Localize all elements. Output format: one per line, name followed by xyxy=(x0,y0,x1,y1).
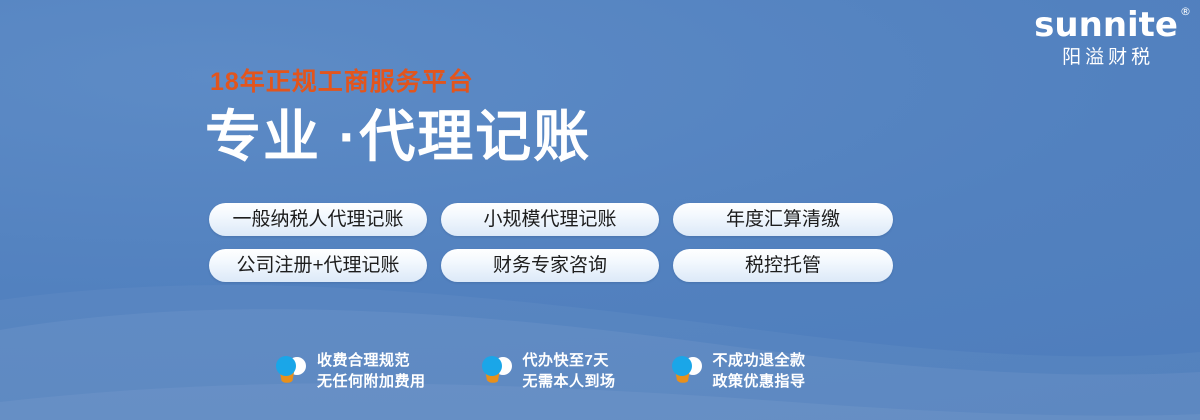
service-tag-company-registration[interactable]: 公司注册+代理记账 xyxy=(209,249,427,282)
service-tag-annual-settlement[interactable]: 年度汇算清缴 xyxy=(673,203,893,236)
feature-line-2: 政策优惠指导 xyxy=(713,371,806,392)
service-tag-row-1: 一般纳税人代理记账 小规模代理记账 年度汇算清缴 xyxy=(209,203,893,236)
service-tag-finance-consulting[interactable]: 财务专家咨询 xyxy=(441,249,659,282)
feature-item-speed: 代办快至7天 无需本人到场 xyxy=(482,350,616,393)
logo-chinese-name: 阳溢财税 xyxy=(1034,48,1178,67)
feature-strip: 收费合理规范 无任何附加费用 代办快至7天 无需本人到场 不成功退全款 xyxy=(276,350,806,393)
feature-text-guarantee: 不成功退全款 政策优惠指导 xyxy=(713,350,806,393)
feature-line-1: 不成功退全款 xyxy=(713,352,806,369)
feature-text-speed: 代办快至7天 无需本人到场 xyxy=(523,350,616,393)
drop-circle-icon xyxy=(482,355,512,388)
promo-banner: sunnite ® 阳溢财税 18年正规工商服务平台 专业 ·代理记账 一般纳税… xyxy=(0,0,1200,420)
headline-block: 18年正规工商服务平台 专业 ·代理记账 xyxy=(205,70,591,165)
feature-text-pricing: 收费合理规范 无任何附加费用 xyxy=(317,350,426,393)
feature-item-pricing: 收费合理规范 无任何附加费用 xyxy=(276,350,426,393)
logo-wordmark-text: sunnite xyxy=(1034,5,1178,45)
feature-line-1: 代办快至7天 xyxy=(523,352,609,369)
service-tag-row-2: 公司注册+代理记账 财务专家咨询 税控托管 xyxy=(209,249,893,282)
drop-circle-icon xyxy=(276,355,306,388)
feature-line-1: 收费合理规范 xyxy=(317,352,410,369)
registered-trademark-icon: ® xyxy=(1180,6,1191,17)
feature-item-guarantee: 不成功退全款 政策优惠指导 xyxy=(672,350,806,393)
feature-line-2: 无任何附加费用 xyxy=(317,371,426,392)
eyebrow-text: 18年正规工商服务平台 xyxy=(210,70,591,95)
service-tag-small-scale[interactable]: 小规模代理记账 xyxy=(441,203,659,236)
service-tag-tax-control-hosting[interactable]: 税控托管 xyxy=(673,249,893,282)
logo-wordmark: sunnite ® xyxy=(1034,8,1178,42)
brand-logo[interactable]: sunnite ® 阳溢财税 xyxy=(1034,8,1178,67)
service-tag-list: 一般纳税人代理记账 小规模代理记账 年度汇算清缴 公司注册+代理记账 财务专家咨… xyxy=(209,203,893,282)
service-tag-general-taxpayer[interactable]: 一般纳税人代理记账 xyxy=(209,203,427,236)
feature-line-2: 无需本人到场 xyxy=(523,371,616,392)
drop-circle-icon xyxy=(672,355,702,388)
page-title: 专业 ·代理记账 xyxy=(205,109,591,165)
